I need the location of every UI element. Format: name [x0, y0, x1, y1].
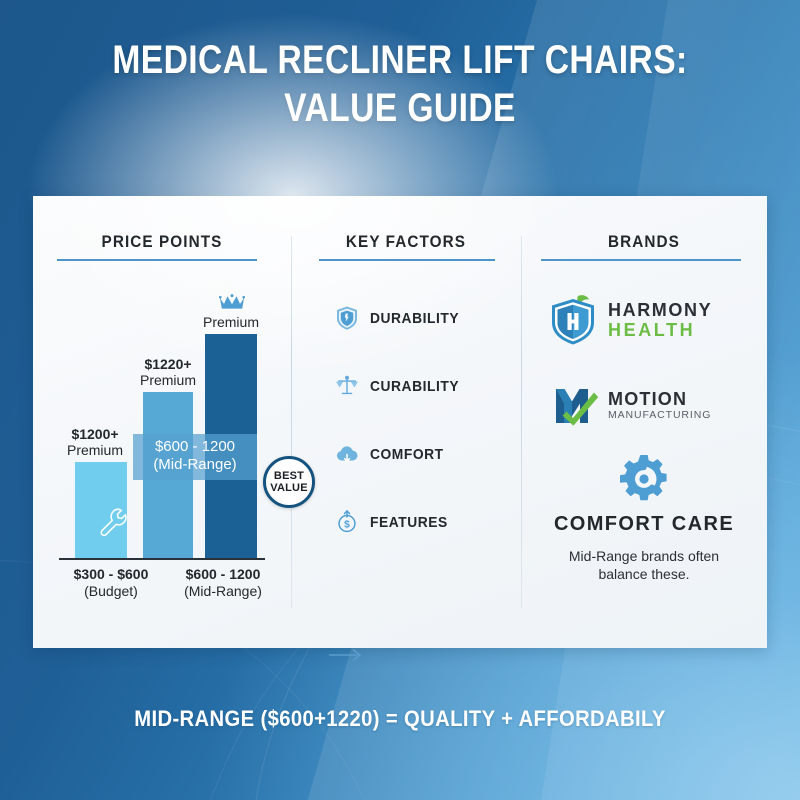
brands-note-line-1: Mid-Range brands often	[521, 547, 767, 565]
price-points-bar-chart: Premium $1220+ Premium $1200+ Premium	[59, 292, 265, 560]
factor-curability: CURABILITY	[335, 374, 515, 398]
factor-comfort: COMFORT	[335, 442, 515, 466]
axis-label-budget: $300 - $600 (Budget)	[55, 566, 167, 600]
heading-rule-brands	[541, 259, 741, 261]
mid-range-badge-line-2: (Mid-Range)	[139, 456, 251, 474]
brand-harmony-health-subname: HEALTH	[608, 320, 712, 340]
bar-top-label-budget: $1200+ Premium	[47, 426, 143, 458]
brand-motion-manufacturing: MOTION MANUFACTURING	[553, 384, 749, 428]
column-heading-brands: BRANDS	[533, 232, 754, 252]
brand-motion-name: MOTION	[608, 390, 711, 409]
factor-durability: DURABILITY	[335, 306, 515, 330]
axis-label-mid-range-range: $600 - 1200	[165, 566, 281, 583]
factor-features: $ FEATURES	[335, 510, 515, 534]
wrench-icon	[97, 506, 129, 538]
brands-note: Mid-Range brands often balance these.	[521, 547, 767, 583]
svg-text:$: $	[344, 520, 350, 531]
bar-top-sub-1: Premium	[47, 442, 143, 458]
cloud-icon	[335, 441, 359, 467]
bar-top-label-premium: Premium	[185, 314, 277, 330]
brand-harmony-health: HARMONY HEALTH	[547, 292, 743, 348]
dollar-circle-icon: $	[335, 509, 359, 535]
brand-harmony-health-text: HARMONY HEALTH	[608, 300, 712, 340]
crown-icon	[219, 294, 245, 310]
axis-label-mid-range-tier: (Mid-Range)	[165, 583, 281, 600]
brand-motion-subname: MANUFACTURING	[608, 409, 711, 422]
mid-range-overlay-badge: $600 - 1200 (Mid-Range)	[133, 434, 257, 480]
shield-icon	[335, 305, 359, 331]
factor-label-comfort: COMFORT	[370, 446, 444, 463]
brand-motion-manufacturing-text: MOTION MANUFACTURING	[608, 390, 711, 422]
arrow-right-icon	[329, 648, 363, 662]
gear-logo	[619, 454, 669, 504]
column-heading-price-points: PRICE POINTS	[46, 232, 278, 252]
heading-rule-price-points	[57, 259, 257, 261]
bar-top-bold-1: $1200+	[47, 426, 143, 442]
factor-label-durability: DURABILITY	[370, 310, 459, 327]
column-heading-key-factors: KEY FACTORS	[303, 232, 510, 252]
mid-range-badge-line-1: $600 - 1200	[139, 438, 251, 456]
infographic-canvas: MEDICAL RECLINER LIFT CHAIRS: VALUE GUID…	[0, 0, 800, 800]
brands-note-line-2: balance these.	[521, 565, 767, 583]
brand-comfort-care: COMFORT CARE Mid-Range brands often bala…	[521, 454, 767, 583]
chart-axis-line	[59, 558, 265, 560]
bar-budget	[75, 462, 127, 558]
shield-h-leaf-logo	[547, 293, 599, 347]
footer-tagline: MID-RANGE ($600+1220) = QUALITY + AFFORD…	[32, 706, 768, 732]
factor-label-features: FEATURES	[370, 514, 448, 531]
heading-rule-key-factors	[319, 259, 495, 261]
axis-label-budget-range: $300 - $600	[55, 566, 167, 583]
column-brands: BRANDS HARMONY HEALTH	[521, 196, 767, 648]
bar-top-sub-3: Premium	[185, 314, 277, 330]
m-checkmark-logo	[553, 385, 599, 427]
column-price-points: PRICE POINTS Premium $1220+ Premium	[33, 196, 291, 648]
brand-comfort-care-name: COMFORT CARE	[521, 513, 767, 536]
axis-label-budget-tier: (Budget)	[55, 583, 167, 600]
brand-harmony-health-name: HARMONY	[608, 300, 712, 320]
scales-icon	[335, 373, 359, 399]
content-card: PRICE POINTS Premium $1220+ Premium	[33, 196, 767, 648]
key-factors-list: DURABILITY CURABILITY	[335, 306, 515, 578]
factor-label-curability: CURABILITY	[370, 378, 459, 395]
column-key-factors: KEY FACTORS DURABILITY	[291, 196, 521, 648]
axis-label-mid-range: $600 - 1200 (Mid-Range)	[165, 566, 281, 600]
